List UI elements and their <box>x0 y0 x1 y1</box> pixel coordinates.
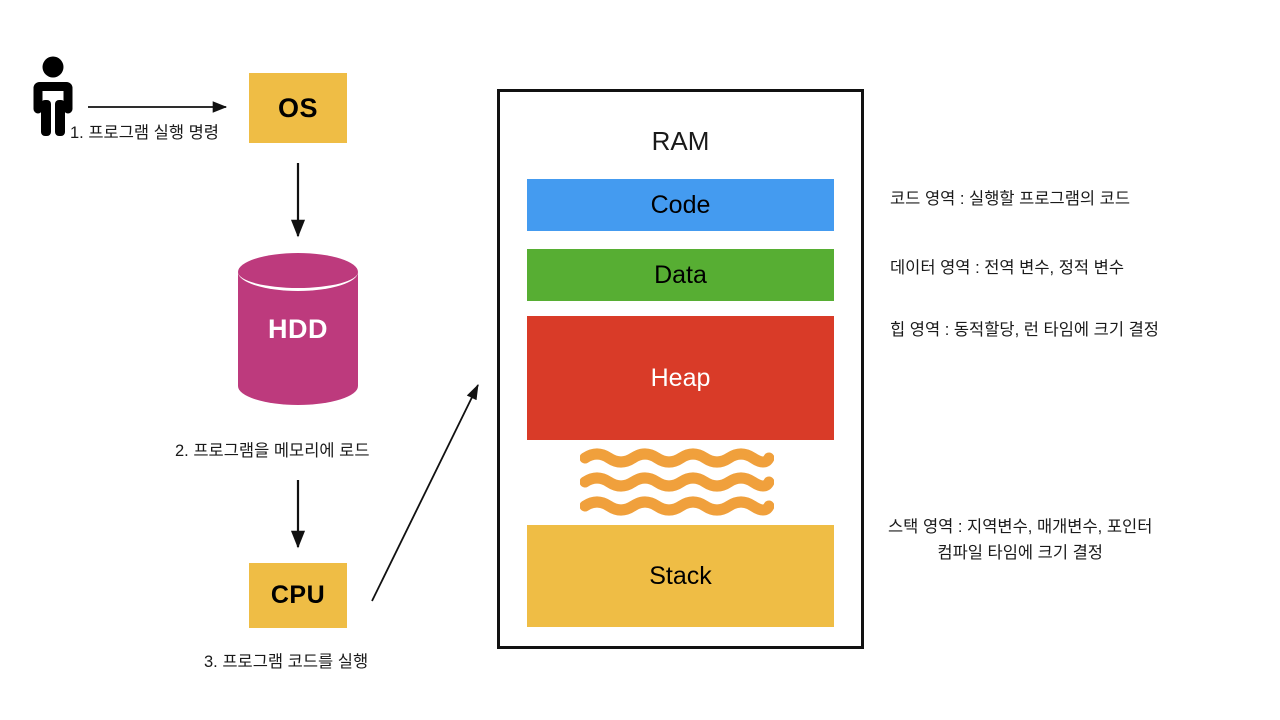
memory-segment-heap: Heap <box>527 316 834 440</box>
annotation-stack: 스택 영역 : 지역변수, 매개변수, 포인터 컴파일 타임에 크기 결정 <box>888 515 1152 566</box>
step-3-caption: 3. 프로그램 코드를 실행 <box>204 648 368 672</box>
wavy-lines-icon <box>580 448 774 516</box>
memory-segment-code: Code <box>527 179 834 231</box>
arrow-cpu-to-ram <box>372 385 478 601</box>
hdd-cylinder-icon: HDD <box>238 253 358 405</box>
memory-segment-data: Data <box>527 249 834 301</box>
os-label: OS <box>278 93 318 124</box>
cpu-box: CPU <box>249 563 347 628</box>
os-box: OS <box>249 73 347 143</box>
ram-title: RAM <box>497 126 864 157</box>
memory-segment-stack: Stack <box>527 525 834 627</box>
annotation-stack-line2: 컴파일 타임에 크기 결정 <box>888 541 1152 567</box>
diagram-canvas: OS HDD CPU <box>0 0 1280 720</box>
annotation-data: 데이터 영역 : 전역 변수, 정적 변수 <box>890 256 1124 282</box>
segment-label-data: Data <box>654 261 707 290</box>
segment-label-code: Code <box>651 191 711 220</box>
segment-label-stack: Stack <box>649 562 712 591</box>
annotation-heap: 힙 영역 : 동적할당, 런 타임에 크기 결정 <box>890 318 1159 344</box>
annotation-stack-line1: 스택 영역 : 지역변수, 매개변수, 포인터 <box>888 518 1152 536</box>
step-2-caption: 2. 프로그램을 메모리에 로드 <box>175 437 370 461</box>
person-icon <box>31 56 75 136</box>
cpu-label: CPU <box>271 581 325 610</box>
step-1-caption: 1. 프로그램 실행 명령 <box>70 119 219 143</box>
hdd-label: HDD <box>238 253 358 405</box>
segment-label-heap: Heap <box>651 364 711 393</box>
annotation-code: 코드 영역 : 실행할 프로그램의 코드 <box>890 187 1130 213</box>
